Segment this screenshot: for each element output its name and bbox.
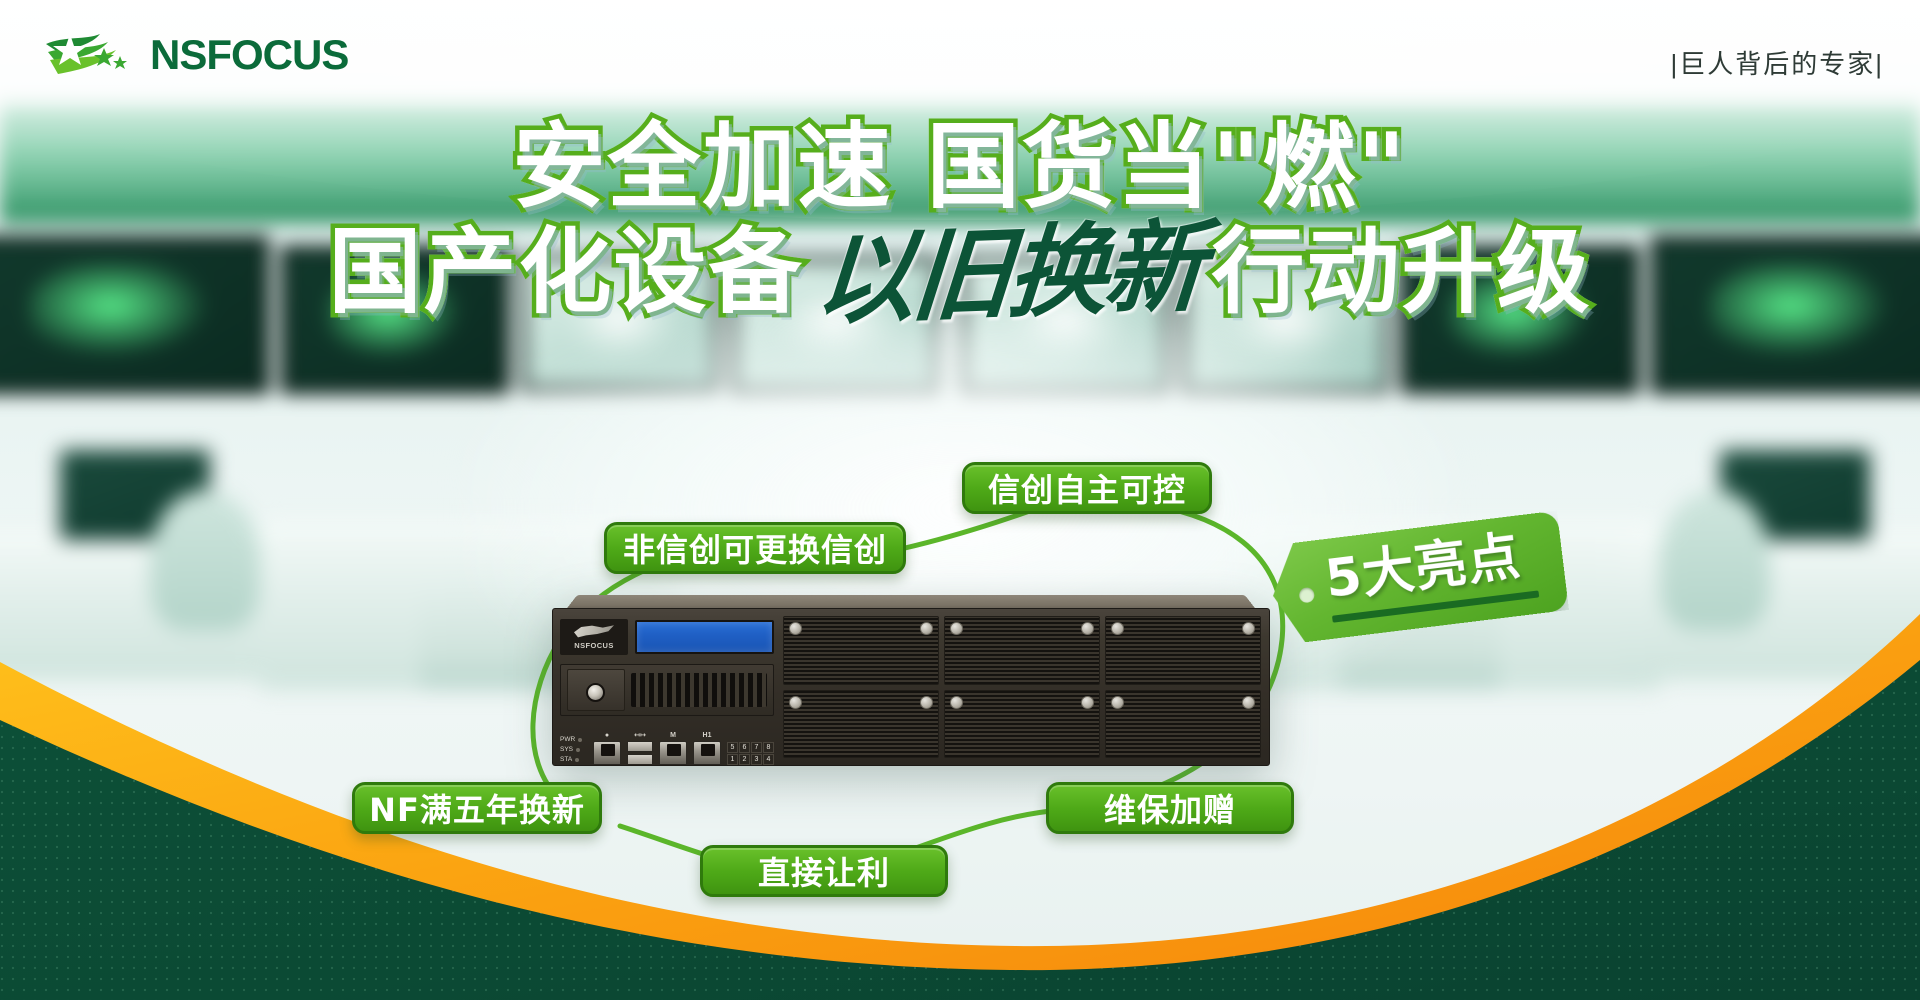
company-tagline: |巨人背后的专家| (1670, 44, 1884, 81)
highlight-pill-nf-five-year-renew[interactable]: NF满五年换新 (352, 782, 602, 834)
headline-line-2-suffix: 行动升级 (1212, 223, 1592, 322)
highlight-pill-direct-discount[interactable]: 直接让利 (700, 845, 948, 897)
banner-header: NSFOCUS |巨人背后的专家| (0, 0, 1920, 110)
headline-block: 安全加速 国货当"燃" 国产化设备 以旧换新 行动升级 (0, 118, 1920, 323)
headline-line-2-wrap: 国产化设备 以旧换新 行动升级 (0, 223, 1920, 323)
headline-brush-phrase: 以旧换新 (803, 216, 1211, 330)
nsfocus-flag-star-icon (42, 30, 138, 80)
bottom-decoration (0, 570, 1920, 1000)
headline-line-1-wrap: 安全加速 国货当"燃" (0, 118, 1920, 217)
highlight-pill-maintenance-bonus[interactable]: 维保加赠 (1046, 782, 1294, 834)
highlight-pill-xinchuang-autonomous[interactable]: 信创自主可控 (962, 462, 1212, 514)
footer-dot-texture (0, 570, 1920, 1000)
nsfocus-logo: NSFOCUS (42, 30, 348, 80)
nsfocus-logo-text: NSFOCUS (150, 31, 348, 79)
headline-line-1: 安全加速 国货当"燃" (512, 118, 1407, 217)
marketing-banner: NSFOCUS |巨人背后的专家| 安全加速 国货当"燃" 国产化设备 以旧换新… (0, 0, 1920, 1000)
highlight-pill-non-xinchuang-replace[interactable]: 非信创可更换信创 (604, 522, 906, 574)
headline-line-2-prefix: 国产化设备 (329, 223, 804, 322)
